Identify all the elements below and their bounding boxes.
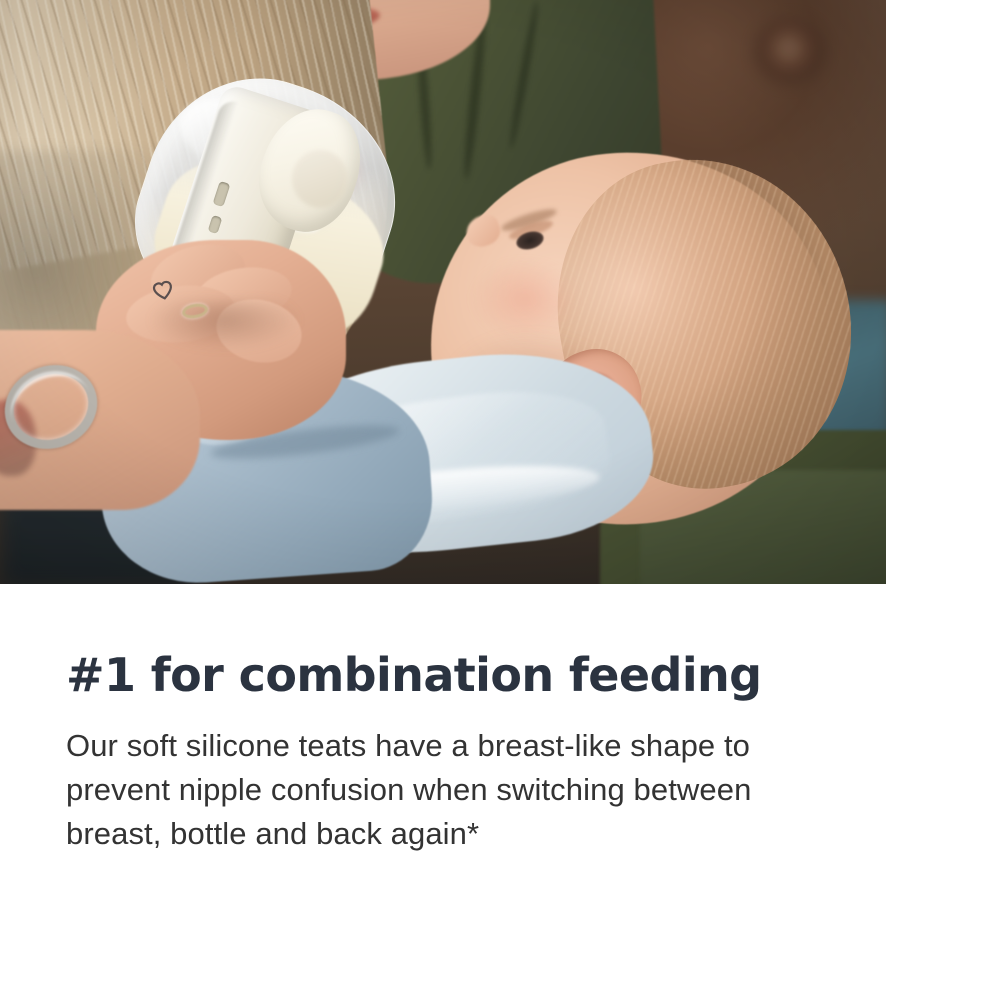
page-title: #1 for combination feeding [66,648,934,702]
product-feature-page: tommee tippee® [0,0,1000,1000]
hero-photo: tommee tippee® [0,0,886,584]
content-block: #1 for combination feeding Our soft sili… [0,584,1000,856]
hero-vignette [0,0,886,584]
hero-image: tommee tippee® [0,0,886,584]
body-copy-text: Our soft silicone teats have a breast-li… [66,724,826,856]
